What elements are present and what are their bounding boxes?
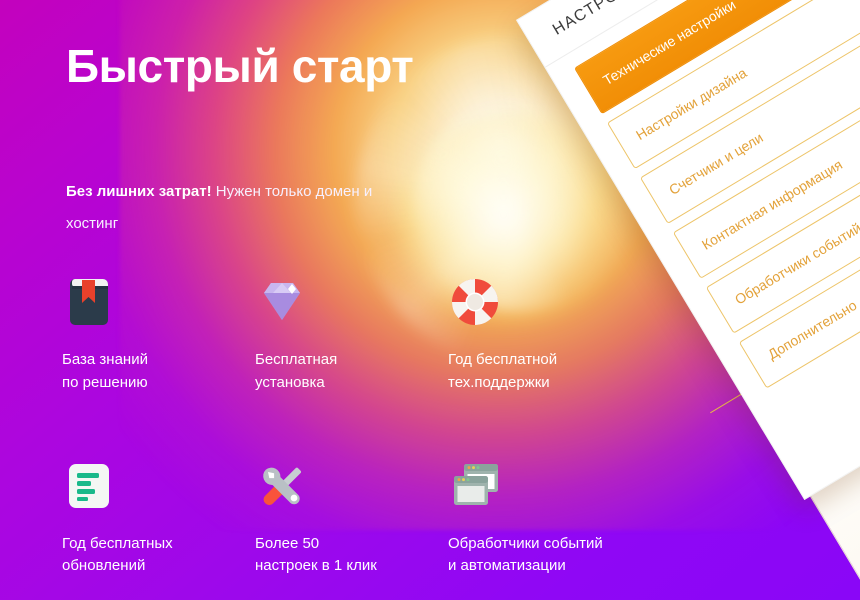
lifering-icon xyxy=(448,275,502,329)
book-icon xyxy=(62,275,116,329)
tools-icon xyxy=(255,459,309,513)
feature-label: Бесплатная установка xyxy=(255,349,448,395)
feature-label: Более 50 настроек в 1 клик xyxy=(255,533,448,579)
feature-settings: Более 50 настроек в 1 клик xyxy=(255,459,448,579)
promo-banner: Инфоблок Товары DELUXE [15] айте [54] [5… xyxy=(0,0,860,600)
feature-free-install: Бесплатная установка xyxy=(255,275,448,395)
hero-subtitle: Без лишних затрат! Нужен только домен и … xyxy=(66,176,396,239)
feature-grid: База знаний по решению Бесплатная устано… xyxy=(62,275,682,578)
feature-knowledge-base: База знаний по решению xyxy=(62,275,255,395)
diamond-icon xyxy=(255,275,309,329)
page-title: Быстрый старт xyxy=(66,38,426,94)
feature-label: Год бесплатных обновлений xyxy=(62,533,255,579)
hero-content: Быстрый старт Без лишних затрат! Нужен т… xyxy=(0,0,470,600)
feature-event-handlers: Обработчики событий и автоматизации xyxy=(448,459,641,579)
feature-row: Год бесплатных обновлений xyxy=(62,459,682,579)
hero-subtitle-bold: Без лишних затрат! xyxy=(66,183,212,200)
feature-label: База знаний по решению xyxy=(62,349,255,395)
feature-label: Обработчики событий и автоматизации xyxy=(448,533,641,579)
document-icon xyxy=(62,459,116,513)
windows-icon xyxy=(448,459,502,513)
feature-row: База знаний по решению Бесплатная устано… xyxy=(62,275,682,395)
feature-updates: Год бесплатных обновлений xyxy=(62,459,255,579)
feature-support: Год бесплатной тех.поддержки xyxy=(448,275,641,395)
feature-label: Год бесплатной тех.поддержки xyxy=(448,349,641,395)
